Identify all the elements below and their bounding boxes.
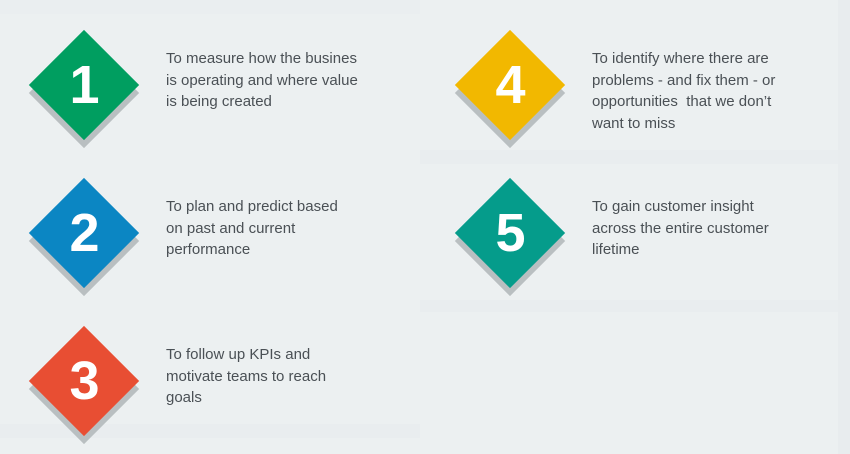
step-number: 2	[29, 178, 139, 288]
step-description: To gain customer insight across the enti…	[592, 196, 842, 261]
step-number: 4	[455, 30, 565, 140]
diamond-badge-1: 1	[29, 30, 139, 148]
step-description: To plan and predict based on past and cu…	[166, 196, 411, 261]
step-number: 3	[29, 326, 139, 436]
step-description: To identify where there are problems - a…	[592, 48, 842, 134]
step-description: To follow up KPIs and motivate teams to …	[166, 344, 411, 409]
step-number: 5	[455, 178, 565, 288]
diamond-badge-3: 3	[29, 326, 139, 444]
step-number: 1	[29, 30, 139, 140]
diamond-badge-2: 2	[29, 178, 139, 296]
diamond-badge-5: 5	[455, 178, 565, 296]
infographic-canvas: 1To measure how the busines is operating…	[0, 0, 850, 454]
diamond-badge-4: 4	[455, 30, 565, 148]
step-description: To measure how the busines is operating …	[166, 48, 411, 113]
